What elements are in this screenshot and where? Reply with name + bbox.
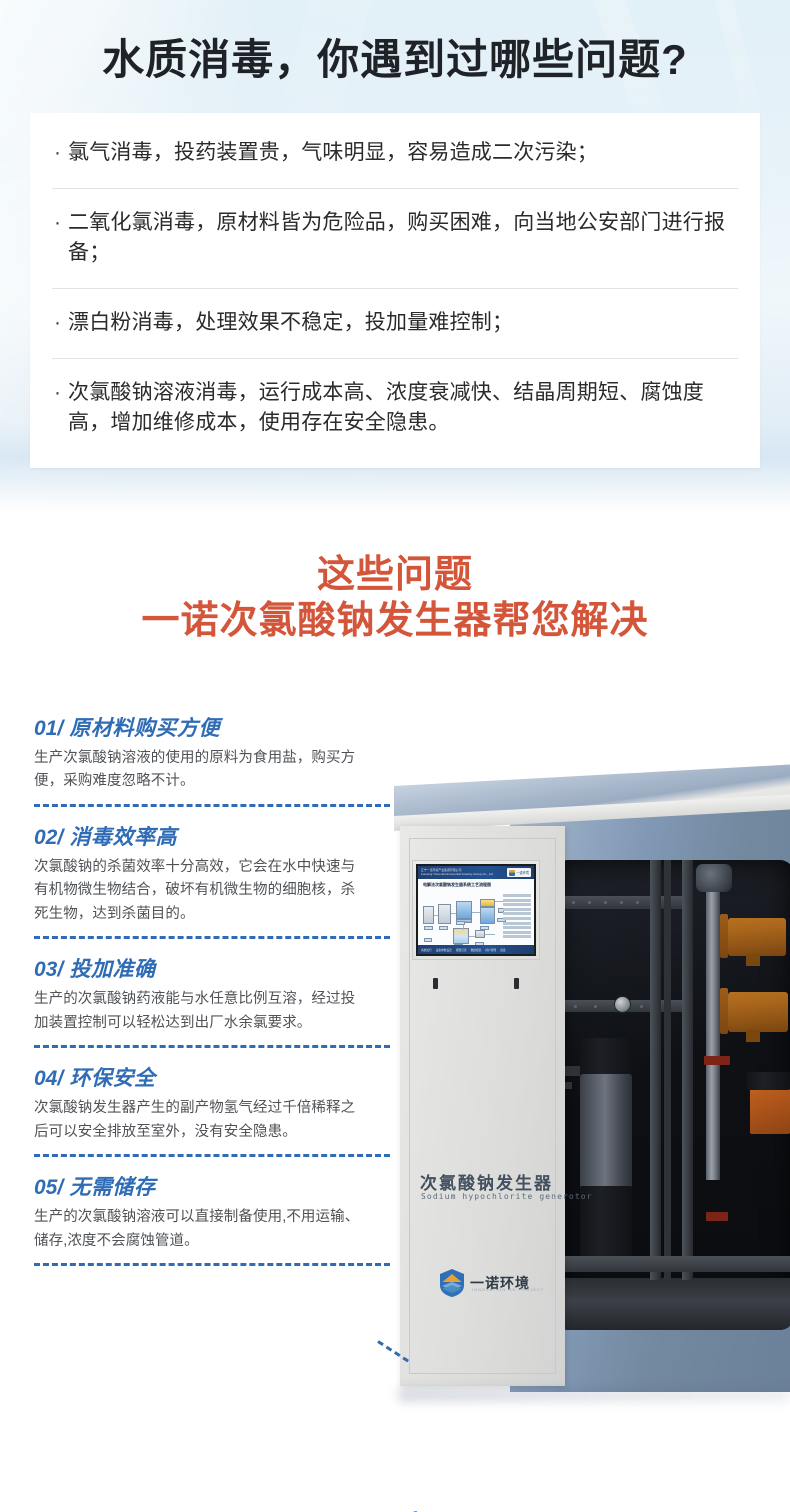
machine-frame-rail: [682, 860, 693, 1280]
machine-floor: [554, 1278, 790, 1330]
machine-motor-head: [696, 864, 732, 892]
hmi-chip-text: 一诺环境: [516, 870, 529, 875]
feature-number: 05/: [34, 1176, 63, 1199]
list-item: · 漂白粉消毒，处理效果不稳定，投加量难控制；: [52, 289, 738, 359]
feature-number: 03/: [34, 958, 63, 981]
brand-logo: 一诺环境: [439, 1269, 530, 1297]
feature-number: 01/: [34, 717, 63, 740]
hmi-process-diagram: [418, 888, 534, 950]
feature-number: 02/: [34, 826, 63, 849]
door-handle[interactable]: [514, 978, 519, 989]
problem-text: 次氯酸钠溶液消毒，运行成本高、浓度衰减快、结晶周期短、腐蚀度高，增加维修成本，使…: [68, 378, 736, 439]
bullet-icon: ·: [54, 308, 68, 338]
hmi-footer-item[interactable]: 设备参数设定: [436, 948, 452, 952]
machine-orange-module: [750, 1088, 790, 1134]
door-handle[interactable]: [433, 978, 438, 989]
product-photo: 辽宁一诺环境产业集团有限公司 Liaoning Yinuo Environmen…: [392, 764, 790, 1424]
shield-logo-icon: [439, 1269, 465, 1297]
feature-desc: 生产的次氯酸钠药液能与水任意比例互溶，经过投加装置控制可以轻松达到出厂水余氯要求…: [34, 988, 366, 1035]
feature-desc: 次氯酸钠的杀菌效率十分高效，它会在水中快速与有机物微生物结合，破坏有机微生物的细…: [34, 856, 366, 926]
hmi-footer-item[interactable]: 数据报表: [471, 948, 482, 952]
feature-list: 01/ 原材料购买方便 生产次氯酸钠溶液的使用的原料为食用盐，购买方便，采购难度…: [0, 712, 420, 1280]
hmi-footer-item[interactable]: 退出: [500, 948, 505, 952]
list-item: · 氯气消毒，投药装置贵，气味明显，容易造成二次污染；: [52, 119, 738, 189]
orange-valve-icon: [728, 918, 786, 956]
feature-title-text: 环保安全: [70, 1067, 156, 1090]
feature-divider: [34, 804, 390, 807]
problem-text: 氯气消毒，投药装置贵，气味明显，容易造成二次污染；: [68, 138, 736, 169]
brand-mark-icon: [509, 870, 515, 876]
feature-item-04: 04/ 环保安全 次氯酸钠发生器产生的副产物氢气经过千倍稀释之后可以安全排放至室…: [0, 1062, 420, 1157]
product-label-en: Sodium hypochlorite generotor: [421, 1192, 593, 1201]
list-item: · 次氯酸钠溶液消毒，运行成本高、浓度衰减快、结晶周期短、腐蚀度高，增加维修成本…: [52, 359, 738, 458]
machine-plate: [562, 896, 692, 909]
feature-title-text: 无需储存: [70, 1176, 156, 1199]
feature-desc: 生产的次氯酸钠溶液可以直接制备使用,不用运输、储存,浓度不会腐蚀管道。: [34, 1206, 366, 1253]
hmi-header-en: Liaoning Yinuo Environmental Industry Gr…: [421, 873, 493, 876]
feature-item-05: 05/ 无需储存 生产的次氯酸钠溶液可以直接制备使用,不用运输、储存,浓度不会腐…: [0, 1171, 420, 1266]
feature-title: 02/ 消毒效率高: [34, 821, 420, 851]
feature-item-02: 02/ 消毒效率高 次氯酸钠的杀菌效率十分高效，它会在水中快速与有机物微生物结合…: [0, 821, 420, 939]
problem-text: 漂白粉消毒，处理效果不稳定，投加量难控制；: [68, 308, 736, 339]
machine-frame-rail: [650, 860, 661, 1280]
hero-section: 水质消毒，你遇到过哪些问题? · 氯气消毒，投药装置贵，气味明显，容易造成二次污…: [0, 0, 790, 512]
hmi-brand-chip: 一诺环境: [507, 868, 531, 877]
feature-title: 05/ 无需储存: [34, 1171, 420, 1201]
feature-title-text: 原材料购买方便: [70, 717, 221, 740]
feature-desc: 次氯酸钠发生器产生的副产物氢气经过千倍稀释之后可以安全排放至室外，没有安全隐患。: [34, 1097, 366, 1144]
bullet-icon: ·: [54, 138, 68, 168]
hmi-title-bar: 辽宁一诺环境产业集团有限公司 Liaoning Yinuo Environmen…: [418, 866, 534, 879]
feature-divider: [34, 1045, 390, 1048]
solution-heading-line1: 这些问题: [0, 552, 790, 598]
feature-desc: 生产次氯酸钠溶液的使用的原料为食用盐，购买方便，采购难度忽略不计。: [34, 747, 366, 794]
feature-title: 01/ 原材料购买方便: [34, 712, 420, 742]
feature-title-text: 消毒效率高: [70, 826, 178, 849]
product-label-cn: 次氯酸钠发生器: [420, 1169, 553, 1194]
hmi-footer-item[interactable]: 系统运行: [421, 948, 432, 952]
feature-divider: [34, 936, 390, 939]
hmi-diagram-title: 电解法次氯酸钠发生器系统工艺流程图: [418, 879, 534, 888]
bullet-icon: ·: [54, 208, 68, 238]
hmi-screen[interactable]: 辽宁一诺环境产业集团有限公司 Liaoning Yinuo Environmen…: [416, 864, 536, 956]
brand-subtitle: INNOVATION ON PROJECT: [472, 1287, 544, 1292]
problem-list-card: · 氯气消毒，投药装置贵，气味明显，容易造成二次污染； · 二氧化氯消毒，原材料…: [30, 113, 760, 468]
solution-heading-line2: 一诺次氯酸钠发生器帮您解决: [0, 598, 790, 644]
product-shadow: [398, 1388, 790, 1402]
feature-divider: [34, 1154, 390, 1157]
problem-text: 二氧化氯消毒，原材料皆为危险品，购买困难，向当地公安部门进行报备；: [68, 208, 736, 269]
feature-divider: [34, 1263, 390, 1266]
hmi-footer-item[interactable]: 报警记录: [456, 948, 467, 952]
feature-title: 04/ 环保安全: [34, 1062, 420, 1092]
orange-valve-icon: [728, 992, 788, 1032]
feature-number: 04/: [34, 1067, 63, 1090]
solution-heading: 这些问题 一诺次氯酸钠发生器帮您解决: [0, 552, 790, 645]
bullet-icon: ·: [54, 378, 68, 408]
hmi-footer-item[interactable]: 用户管理: [485, 948, 496, 952]
feature-title: 03/ 投加准确: [34, 953, 420, 983]
pressure-gauge-icon: [614, 996, 631, 1013]
list-item: · 二氧化氯消毒，原材料皆为危险品，购买困难，向当地公安部门进行报备；: [52, 189, 738, 289]
machine-shaft: [706, 880, 720, 1180]
machine-column: [580, 1038, 632, 1078]
page-title: 水质消毒，你遇到过哪些问题?: [0, 36, 790, 84]
product-glass-window: [554, 860, 790, 1330]
feature-item-03: 03/ 投加准确 生产的次氯酸钠药液能与水任意比例互溶，经过投加装置控制可以轻松…: [0, 953, 420, 1048]
hmi-footer-bar[interactable]: 系统运行 设备参数设定 报警记录 数据报表 用户管理 退出: [418, 945, 534, 954]
machine-pipe: [664, 860, 671, 1280]
feature-item-01: 01/ 原材料购买方便 生产次氯酸钠溶液的使用的原料为食用盐，购买方便，采购难度…: [0, 712, 420, 807]
solution-section: 这些问题 一诺次氯酸钠发生器帮您解决: [0, 512, 790, 1512]
machine-column: [580, 1074, 632, 1190]
feature-title-text: 投加准确: [70, 958, 156, 981]
hmi-legend: [503, 894, 531, 940]
